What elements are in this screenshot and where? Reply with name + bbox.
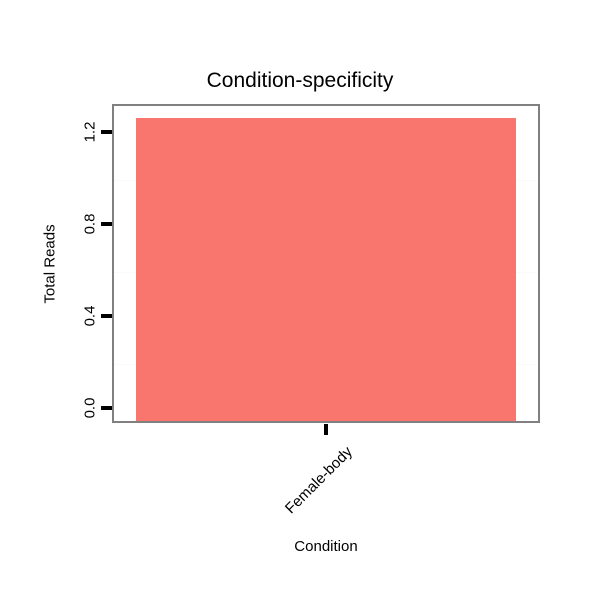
y-tick-mark-0.4	[101, 314, 112, 318]
y-tick-label-0.0: 0.0	[83, 398, 98, 419]
x-tick-mark-female-body	[324, 424, 328, 435]
chart-title: Condition-specificity	[0, 68, 600, 94]
y-tick-mark-0.0	[101, 406, 112, 410]
x-axis-title: Condition	[112, 538, 540, 556]
y-tick-label-1.2: 1.2	[83, 122, 98, 143]
bar-female-body[interactable]	[136, 118, 515, 421]
y-tick-label-0.4: 0.4	[83, 306, 98, 327]
plot-panel	[112, 104, 540, 423]
y-axis-title: Total Reads	[43, 224, 58, 303]
y-tick-mark-1.2	[101, 130, 112, 134]
y-tick-label-0.8: 0.8	[83, 214, 98, 235]
x-tick-label-female-body: Female-body	[283, 444, 356, 517]
chart-canvas: Condition-specificity 1.2 0.8 0.4 0.0 To…	[0, 0, 600, 600]
y-tick-mark-0.8	[101, 222, 112, 226]
